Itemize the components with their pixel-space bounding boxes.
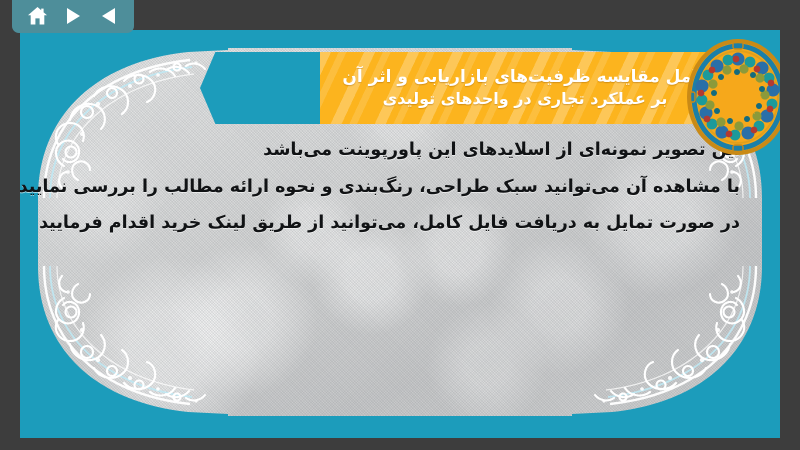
body-line-2: با مشاهده آن می‌توانید سبک طراحی، رنگ‌بن… (90, 179, 740, 197)
bottom-left-filigree-ornament (38, 266, 228, 416)
persian-medallion-ornament (684, 38, 780, 156)
left-triangle-icon (100, 7, 117, 25)
forward-button[interactable] (60, 4, 86, 28)
presentation-slide: کامل مقایسه ظرفیت‌های بازاریابی و اثر آن… (20, 30, 780, 438)
banner-arrow-shape (200, 52, 328, 124)
slide-title-line-2: بر عملکرد تجاری در واحدهای تولیدی (369, 89, 682, 109)
slide-body-text: این تصویر نمونه‌ای از اسلایدهای این پاور… (90, 142, 740, 252)
slide-title-line-1: کامل مقایسه ظرفیت‌های بازاریابی و اثر آن (328, 67, 721, 89)
home-icon (27, 6, 48, 26)
home-button[interactable] (25, 4, 51, 28)
slide-title-banner: کامل مقایسه ظرفیت‌های بازاریابی و اثر آن… (200, 52, 730, 124)
body-line-3: در صورت تمایل به دریافت فایل کامل، می‌تو… (90, 215, 740, 233)
viewer-navigation-bar (12, 0, 134, 33)
back-button[interactable] (95, 4, 121, 28)
right-triangle-icon (65, 7, 82, 25)
banner-body: کامل مقایسه ظرفیت‌های بازاریابی و اثر آن… (320, 52, 730, 124)
body-line-1: این تصویر نمونه‌ای از اسلایدهای این پاور… (90, 142, 740, 160)
bottom-right-filigree-ornament (572, 266, 762, 416)
